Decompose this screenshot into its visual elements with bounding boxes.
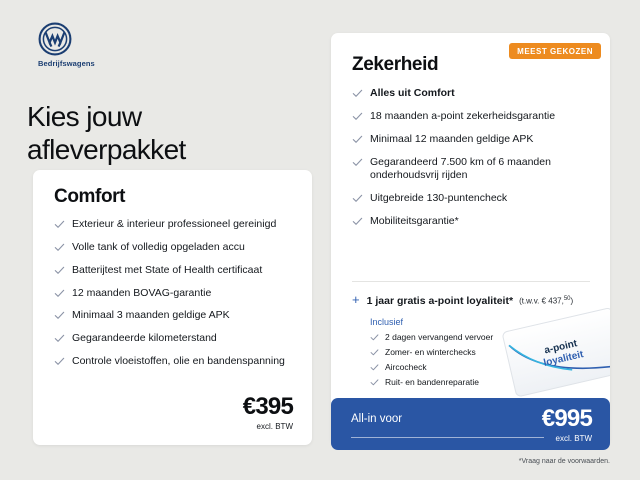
check-icon: [54, 265, 65, 276]
list-item: 18 maanden a-point zekerheidsgarantie: [352, 110, 596, 124]
comfort-package-card[interactable]: Comfort Exterieur & interieur profession…: [33, 170, 312, 445]
footnote: *Vraag naar de voorwaarden.: [519, 458, 610, 465]
check-icon: [54, 242, 65, 253]
page-title-line2: afleverpakket: [27, 134, 307, 167]
feature-text: 12 maanden BOVAG-garantie: [72, 287, 211, 301]
feature-text: Controle vloeistoffen, olie en bandenspa…: [72, 355, 285, 369]
feature-text: Uitgebreide 130-puntencheck: [370, 192, 507, 206]
feature-text: Exterieur & interieur professioneel gere…: [72, 218, 276, 232]
check-icon: [54, 288, 65, 299]
divider: [352, 281, 590, 282]
list-item: 12 maanden BOVAG-garantie: [54, 287, 296, 301]
left-column: Bedrijfswagens Kies jouw afleverpakket C…: [0, 0, 320, 480]
comfort-price-amount: €395: [243, 395, 293, 419]
comfort-price-note: excl. BTW: [243, 422, 293, 431]
loyalty-title: 1 jaar gratis a-point loyaliteit*: [367, 295, 513, 307]
feature-text: Alles uit Comfort: [370, 87, 455, 101]
brand-logo-block: Bedrijfswagens: [38, 22, 158, 68]
list-item: Gegarandeerd 7.500 km of 6 maanden onder…: [352, 156, 596, 184]
sub-feature-text: Ruit- en bandenreparatie: [385, 377, 479, 387]
list-item: Uitgebreide 130-puntencheck: [352, 192, 596, 206]
allin-price-bar[interactable]: All-in voor €995 excl. BTW: [331, 398, 610, 450]
feature-text: Gegarandeerd 7.500 km of 6 maanden onder…: [370, 156, 596, 184]
sub-feature-text: Aircocheck: [385, 362, 427, 372]
feature-text: 18 maanden a-point zekerheidsgarantie: [370, 110, 555, 124]
loyalty-value: (t.w.v. € 437,50): [519, 296, 573, 306]
allin-label: All-in voor: [351, 413, 402, 425]
zekerheid-feature-list: Alles uit Comfort 18 maanden a-point zek…: [352, 87, 596, 238]
plus-icon: +: [352, 293, 360, 306]
list-item: Minimaal 12 maanden geldige APK: [352, 133, 596, 147]
list-item: Minimaal 3 maanden geldige APK: [54, 309, 296, 323]
list-item: Volle tank of volledig opgeladen accu: [54, 241, 296, 255]
feature-text: Gegarandeerde kilometerstand: [72, 332, 217, 346]
check-icon: [352, 157, 363, 168]
list-item: Controle vloeistoffen, olie en bandenspa…: [54, 355, 296, 369]
check-icon: [54, 333, 65, 344]
allin-price-amount: €995: [542, 407, 592, 431]
page-title: Kies jouw afleverpakket: [27, 101, 307, 167]
feature-text: Minimaal 12 maanden geldige APK: [370, 133, 533, 147]
list-item: Exterieur & interieur professioneel gere…: [54, 218, 296, 232]
comfort-card-title: Comfort: [54, 186, 125, 208]
feature-text: Mobiliteitsgarantie*: [370, 215, 459, 229]
vw-roundel-icon: [38, 22, 72, 56]
check-icon: [370, 348, 379, 357]
list-item: Batterijtest met State of Health certifi…: [54, 264, 296, 278]
comfort-price-block: €395 excl. BTW: [243, 395, 293, 431]
page-title-line1: Kies jouw: [27, 101, 307, 134]
check-icon: [370, 378, 379, 387]
feature-text: Volle tank of volledig opgeladen accu: [72, 241, 245, 255]
sub-feature-text: Zomer- en winterchecks: [385, 347, 476, 357]
zekerheid-package-card[interactable]: MEEST GEKOZEN Zekerheid Alles uit Comfor…: [331, 33, 610, 445]
list-item: Gegarandeerde kilometerstand: [54, 332, 296, 346]
feature-text: Batterijtest met State of Health certifi…: [72, 264, 262, 278]
brand-sub-label: Bedrijfswagens: [38, 59, 158, 68]
list-item: Mobiliteitsgarantie*: [352, 215, 596, 229]
loyalty-value-prefix: (t.w.v. € 437,: [519, 297, 564, 306]
allin-underline: [351, 437, 544, 438]
most-chosen-badge: MEEST GEKOZEN: [509, 43, 601, 59]
check-icon: [352, 111, 363, 122]
list-item: Alles uit Comfort: [352, 87, 596, 101]
check-icon: [352, 193, 363, 204]
loyalty-headline: + 1 jaar gratis a-point loyaliteit* (t.w…: [352, 293, 602, 307]
check-icon: [370, 333, 379, 342]
check-icon: [54, 310, 65, 321]
check-icon: [54, 356, 65, 367]
feature-text: Minimaal 3 maanden geldige APK: [72, 309, 230, 323]
allin-price-block: €995 excl. BTW: [542, 407, 592, 443]
loyalty-value-cents: 50: [564, 296, 571, 302]
allin-price-note: excl. BTW: [542, 434, 592, 443]
loyalty-value-suffix: ): [571, 297, 574, 306]
check-icon: [352, 216, 363, 227]
check-icon: [352, 134, 363, 145]
check-icon: [352, 88, 363, 99]
check-icon: [54, 219, 65, 230]
sub-feature-text: 2 dagen vervangend vervoer: [385, 332, 493, 342]
check-icon: [370, 363, 379, 372]
zekerheid-card-title: Zekerheid: [352, 54, 438, 76]
comfort-feature-list: Exterieur & interieur professioneel gere…: [54, 218, 296, 378]
